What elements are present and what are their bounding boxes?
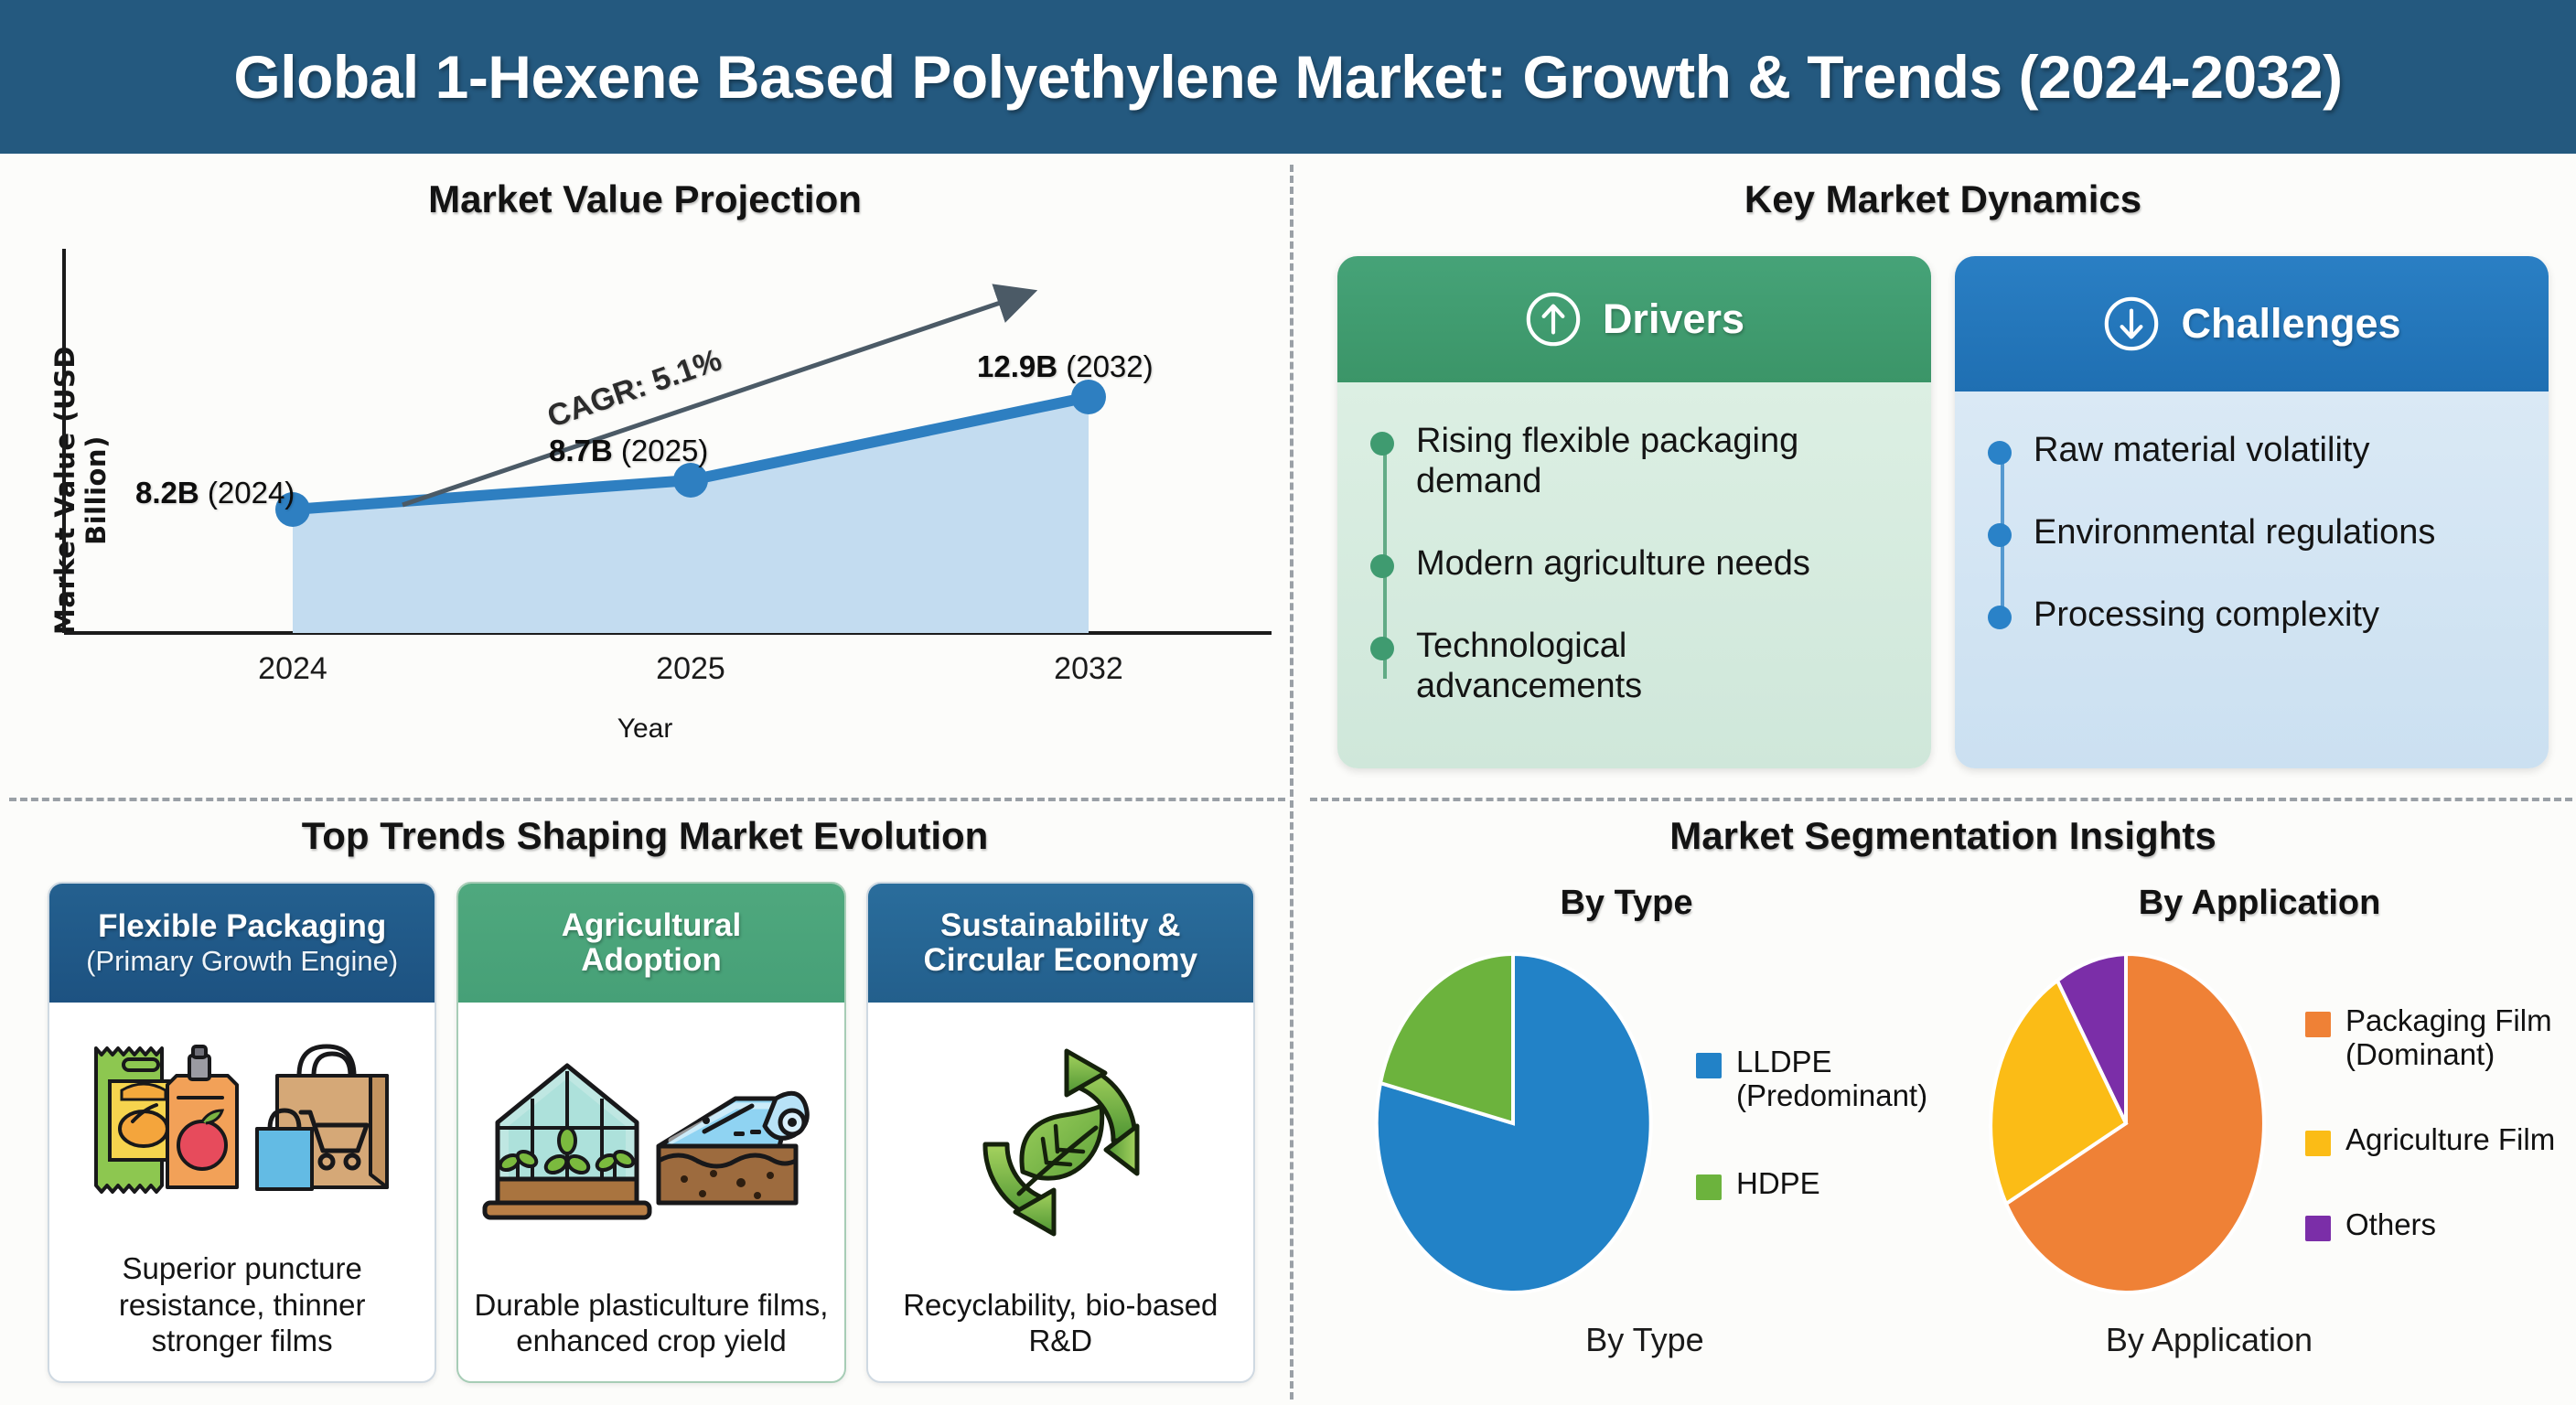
drivers-item-3: Technological advancements	[1370, 626, 1904, 706]
drivers-card[interactable]: Drivers Rising flexible packaging demand…	[1337, 256, 1931, 768]
area-fill	[293, 397, 1089, 633]
vertical-divider	[1290, 165, 1293, 1400]
trend-3-title2: Circular Economy	[924, 943, 1198, 978]
legend-label-lldpe: LLDPE (Predominant)	[1736, 1046, 1927, 1113]
drivers-item-2-label: Modern agriculture needs	[1416, 543, 1810, 584]
line-chart-svg	[0, 231, 1290, 715]
trend-1-title: Flexible Packaging	[98, 909, 386, 944]
trend-1-art	[49, 1003, 435, 1247]
by-application-pie-chart[interactable]	[1970, 940, 2281, 1306]
by-type-pie-chart[interactable]	[1358, 940, 1669, 1306]
market-value-panel: Market Value Projection Market Value (US…	[0, 165, 1290, 798]
by-type-footer: By Type	[1310, 1321, 1943, 1359]
flexible-packaging-icon	[69, 1034, 416, 1217]
challenges-item-1: Raw material volatility	[1988, 430, 2521, 470]
recycling-leaf-icon	[955, 1042, 1165, 1243]
x-axis-label: Year	[0, 713, 1290, 745]
legend-label-hdpe: HDPE	[1736, 1167, 1820, 1201]
data-label-2025-value: 8.7B	[549, 434, 613, 467]
trend-1-desc: Superior puncture resistance, thinner st…	[49, 1247, 435, 1381]
challenges-body: Raw material volatility Environmental re…	[1955, 391, 2549, 768]
legend-swatch-icon	[1696, 1174, 1722, 1200]
legend-swatch-icon	[2305, 1012, 2331, 1037]
challenges-item-1-label: Raw material volatility	[2034, 430, 2369, 470]
challenges-heading: Challenges	[2181, 300, 2400, 348]
trend-3-desc: Recyclability, bio-based R&D	[868, 1283, 1253, 1381]
legend-item-packaging-film[interactable]: Packaging Film (Dominant)	[2305, 1004, 2555, 1072]
dynamics-cards: Drivers Rising flexible packaging demand…	[1337, 256, 2549, 768]
segmentation-title: Market Segmentation Insights	[1310, 814, 2576, 858]
by-type-title: By Type	[1310, 884, 1943, 923]
bullet-dot-icon	[1988, 523, 2012, 547]
trend-2-header: Agricultural Adoption	[458, 884, 843, 1003]
by-application-footer: By Application	[1943, 1321, 2576, 1359]
bullet-dot-icon	[1370, 554, 1394, 578]
trend-3-title: Sustainability &	[940, 908, 1181, 943]
data-label-2032-value: 12.9B	[977, 349, 1057, 383]
trend-2-desc: Durable plasticulture films, enhanced cr…	[458, 1283, 843, 1381]
trend-cards: Flexible Packaging (Primary Growth Engin…	[48, 882, 1255, 1383]
trend-card-sustainability[interactable]: Sustainability & Circular Economy	[866, 882, 1255, 1383]
by-type-row: LLDPE (Predominant) HDPE	[1310, 940, 1943, 1306]
data-label-2024: 8.2B (2024)	[135, 476, 295, 510]
bullet-dot-icon	[1988, 441, 2012, 465]
greenhouse-mulch-film-icon	[478, 1051, 825, 1234]
x-tick-2025: 2025	[656, 651, 725, 687]
trend-2-title2: Adoption	[581, 943, 722, 978]
page-title: Global 1-Hexene Based Polyethylene Marke…	[233, 42, 2342, 112]
challenges-item-2: Environmental regulations	[1988, 512, 2521, 552]
top-trends-panel: Top Trends Shaping Market Evolution Flex…	[0, 805, 1290, 1405]
data-label-2032-year: (2032)	[1066, 349, 1153, 383]
by-application-title: By Application	[1943, 884, 2576, 923]
drivers-header: Drivers	[1337, 256, 1931, 382]
by-application-row: Packaging Film (Dominant) Agriculture Fi…	[1943, 940, 2576, 1306]
drivers-item-2: Modern agriculture needs	[1370, 543, 1904, 584]
by-type-legend: LLDPE (Predominant) HDPE	[1696, 1046, 1927, 1202]
infographic-canvas: Global 1-Hexene Based Polyethylene Marke…	[0, 0, 2576, 1405]
trend-card-flexible-packaging[interactable]: Flexible Packaging (Primary Growth Engin…	[48, 882, 436, 1383]
legend-item-others[interactable]: Others	[2305, 1208, 2555, 1242]
horizontal-divider-left	[9, 798, 1285, 801]
challenges-header: Challenges	[1955, 256, 2549, 391]
key-market-dynamics-panel: Key Market Dynamics Drivers Rising	[1310, 165, 2576, 798]
horizontal-divider-right	[1310, 798, 2572, 801]
data-label-2025-year: (2025)	[621, 434, 708, 467]
bullet-dot-icon	[1370, 637, 1394, 660]
legend-swatch-icon	[2305, 1216, 2331, 1241]
x-tick-2024: 2024	[258, 651, 327, 687]
arrow-down-circle-icon	[2102, 295, 2161, 353]
by-application-column: By Application	[1943, 884, 2576, 1396]
x-tick-2032: 2032	[1054, 651, 1123, 687]
arrow-up-circle-icon	[1524, 290, 1583, 349]
challenges-card[interactable]: Challenges Raw material volatility Envir…	[1955, 256, 2549, 768]
drivers-body: Rising flexible packaging demand Modern …	[1337, 382, 1931, 768]
trend-1-header: Flexible Packaging (Primary Growth Engin…	[49, 884, 435, 1003]
data-label-2025: 8.7B (2025)	[549, 434, 708, 468]
legend-swatch-icon	[2305, 1131, 2331, 1156]
trend-3-art	[868, 1003, 1253, 1283]
market-value-chart: Market Value (USD Billion)	[0, 231, 1290, 788]
bullet-dot-icon	[1370, 432, 1394, 456]
data-label-2024-year: (2024)	[208, 476, 295, 509]
data-label-2024-value: 8.2B	[135, 476, 199, 509]
legend-item-hdpe[interactable]: HDPE	[1696, 1167, 1927, 1201]
drivers-item-1: Rising flexible packaging demand	[1370, 421, 1904, 501]
legend-label-packaging-film: Packaging Film (Dominant)	[2345, 1004, 2552, 1072]
legend-swatch-icon	[1696, 1053, 1722, 1078]
drivers-item-1-label: Rising flexible packaging demand	[1416, 421, 1904, 501]
trends-title: Top Trends Shaping Market Evolution	[0, 814, 1290, 858]
trend-2-art	[458, 1003, 843, 1283]
legend-item-lldpe[interactable]: LLDPE (Predominant)	[1696, 1046, 1927, 1113]
by-application-legend: Packaging Film (Dominant) Agriculture Fi…	[2305, 1004, 2555, 1242]
challenges-item-3: Processing complexity	[1988, 595, 2521, 635]
legend-label-agriculture-film: Agriculture Film	[2345, 1123, 2555, 1157]
trend-1-subtitle: (Primary Growth Engine)	[86, 946, 398, 977]
data-point-2032	[1071, 380, 1106, 414]
challenges-item-2-label: Environmental regulations	[2034, 512, 2435, 552]
trend-2-title: Agricultural	[562, 908, 741, 943]
by-type-column: By Type LLDPE (Pr	[1310, 884, 1943, 1396]
drivers-heading: Drivers	[1603, 295, 1744, 343]
trend-3-header: Sustainability & Circular Economy	[868, 884, 1253, 1003]
dynamics-title: Key Market Dynamics	[1310, 177, 2576, 221]
trend-card-agricultural-adoption[interactable]: Agricultural Adoption	[456, 882, 845, 1383]
segmentation-charts: By Type LLDPE (Pr	[1310, 884, 2576, 1396]
challenges-item-3-label: Processing complexity	[2034, 595, 2379, 635]
drivers-item-3-label: Technological advancements	[1416, 626, 1718, 706]
data-label-2032: 12.9B (2032)	[977, 349, 1154, 384]
header-bar: Global 1-Hexene Based Polyethylene Marke…	[0, 0, 2576, 154]
market-segmentation-panel: Market Segmentation Insights By Type	[1310, 805, 2576, 1405]
legend-label-others: Others	[2345, 1208, 2436, 1242]
market-value-title: Market Value Projection	[0, 177, 1290, 221]
bullet-dot-icon	[1988, 606, 2012, 629]
legend-item-agriculture-film[interactable]: Agriculture Film	[2305, 1123, 2555, 1157]
